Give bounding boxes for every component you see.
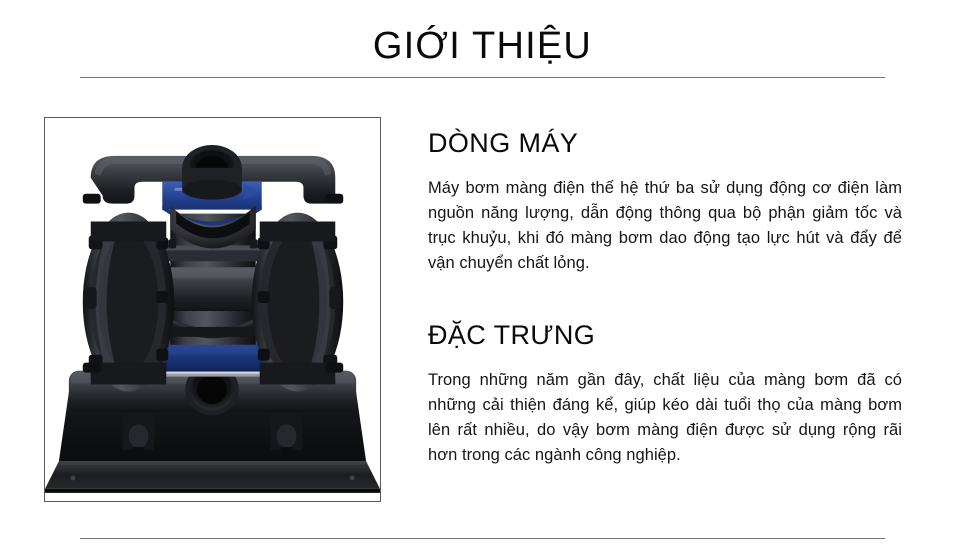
- section-heading: DÒNG MÁY: [428, 126, 902, 160]
- page-title: GIỚI THIỆU: [80, 22, 885, 70]
- section-body: Máy bơm màng điện thế hệ thứ ba sử dụng …: [428, 176, 902, 276]
- section-heading: ĐẶC TRƯNG: [428, 318, 902, 352]
- diaphragm-pump-photo: [45, 118, 380, 501]
- section-body: Trong những năm gần đây, chất liệu của m…: [428, 368, 902, 468]
- section-dac-trung: ĐẶC TRƯNG Trong những năm gần đây, chất …: [428, 318, 902, 468]
- figure-frame: [44, 117, 381, 502]
- title-divider-top: [80, 77, 885, 78]
- slide-root: GIỚI THIỆU: [0, 0, 960, 560]
- content-column: DÒNG MÁY Máy bơm màng điện thế hệ thứ ba…: [428, 126, 902, 468]
- footer-divider-bottom: [80, 538, 885, 539]
- section-dong-may: DÒNG MÁY Máy bơm màng điện thế hệ thứ ba…: [428, 126, 902, 276]
